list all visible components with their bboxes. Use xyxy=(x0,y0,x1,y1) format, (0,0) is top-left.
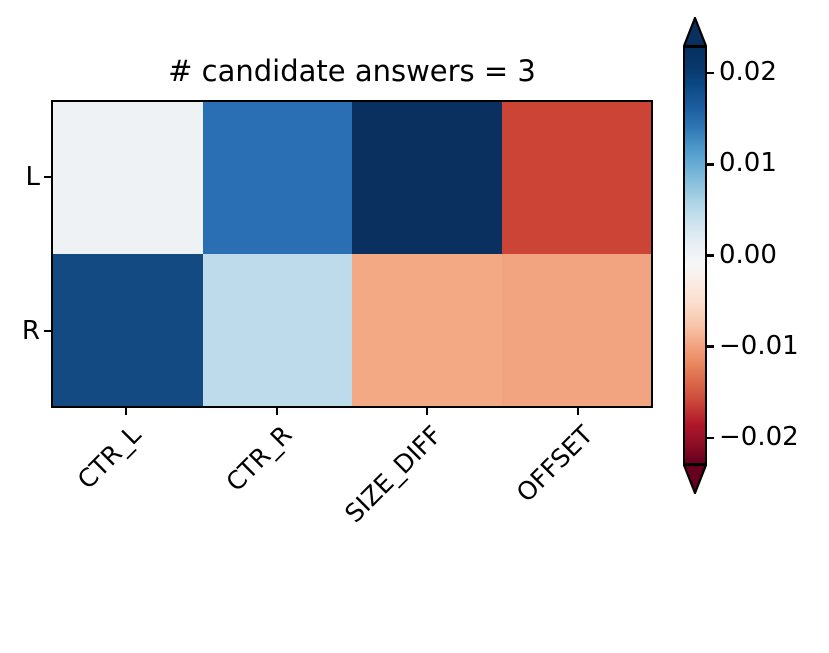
y-tick-label-L: L xyxy=(12,163,40,191)
colorbar-gradient xyxy=(685,48,705,463)
colorbar-extend-down-arrow-icon xyxy=(683,464,707,494)
colorbar-tick-label: 0.00 xyxy=(719,242,777,268)
heatmap-cell xyxy=(53,254,203,406)
colorbar-tick-label: 0.01 xyxy=(719,150,777,176)
colorbar-extend-up-arrow-icon xyxy=(683,17,707,47)
heatmap-cell xyxy=(203,254,353,406)
colorbar-tick-label: 0.02 xyxy=(719,59,777,85)
x-tick-mark xyxy=(577,408,579,415)
heatmap-cell xyxy=(53,102,203,254)
colorbar-tick-label: −0.01 xyxy=(719,333,799,359)
x-tick-label: CTR_L xyxy=(0,420,147,653)
colorbar-tick-mark xyxy=(707,163,714,165)
heatmap-plot-area xyxy=(51,100,653,408)
heatmap-grid xyxy=(53,102,651,406)
colorbar-body xyxy=(683,46,707,465)
page-title: # candidate answers = 3 xyxy=(51,54,653,88)
colorbar-tick-mark xyxy=(707,437,714,439)
colorbar-tick-mark xyxy=(707,72,714,74)
x-tick-mark xyxy=(276,408,278,415)
y-tick-label-R: R xyxy=(12,317,40,345)
y-tick-mark-L xyxy=(44,176,51,178)
heatmap-cell xyxy=(352,254,502,406)
heatmap-cell xyxy=(502,254,652,406)
heatmap-cell xyxy=(502,102,652,254)
colorbar-tick-label: −0.02 xyxy=(719,424,799,450)
colorbar xyxy=(683,17,707,494)
colorbar-tick-mark xyxy=(707,345,714,347)
x-tick-mark xyxy=(426,408,428,415)
figure-canvas: # candidate answers = 3 L R CTR_LCTR_RSI… xyxy=(0,0,829,565)
colorbar-tick-mark xyxy=(707,254,714,256)
y-tick-mark-R xyxy=(44,330,51,332)
heatmap-cell xyxy=(352,102,502,254)
heatmap-cell xyxy=(203,102,353,254)
x-tick-mark xyxy=(125,408,127,415)
